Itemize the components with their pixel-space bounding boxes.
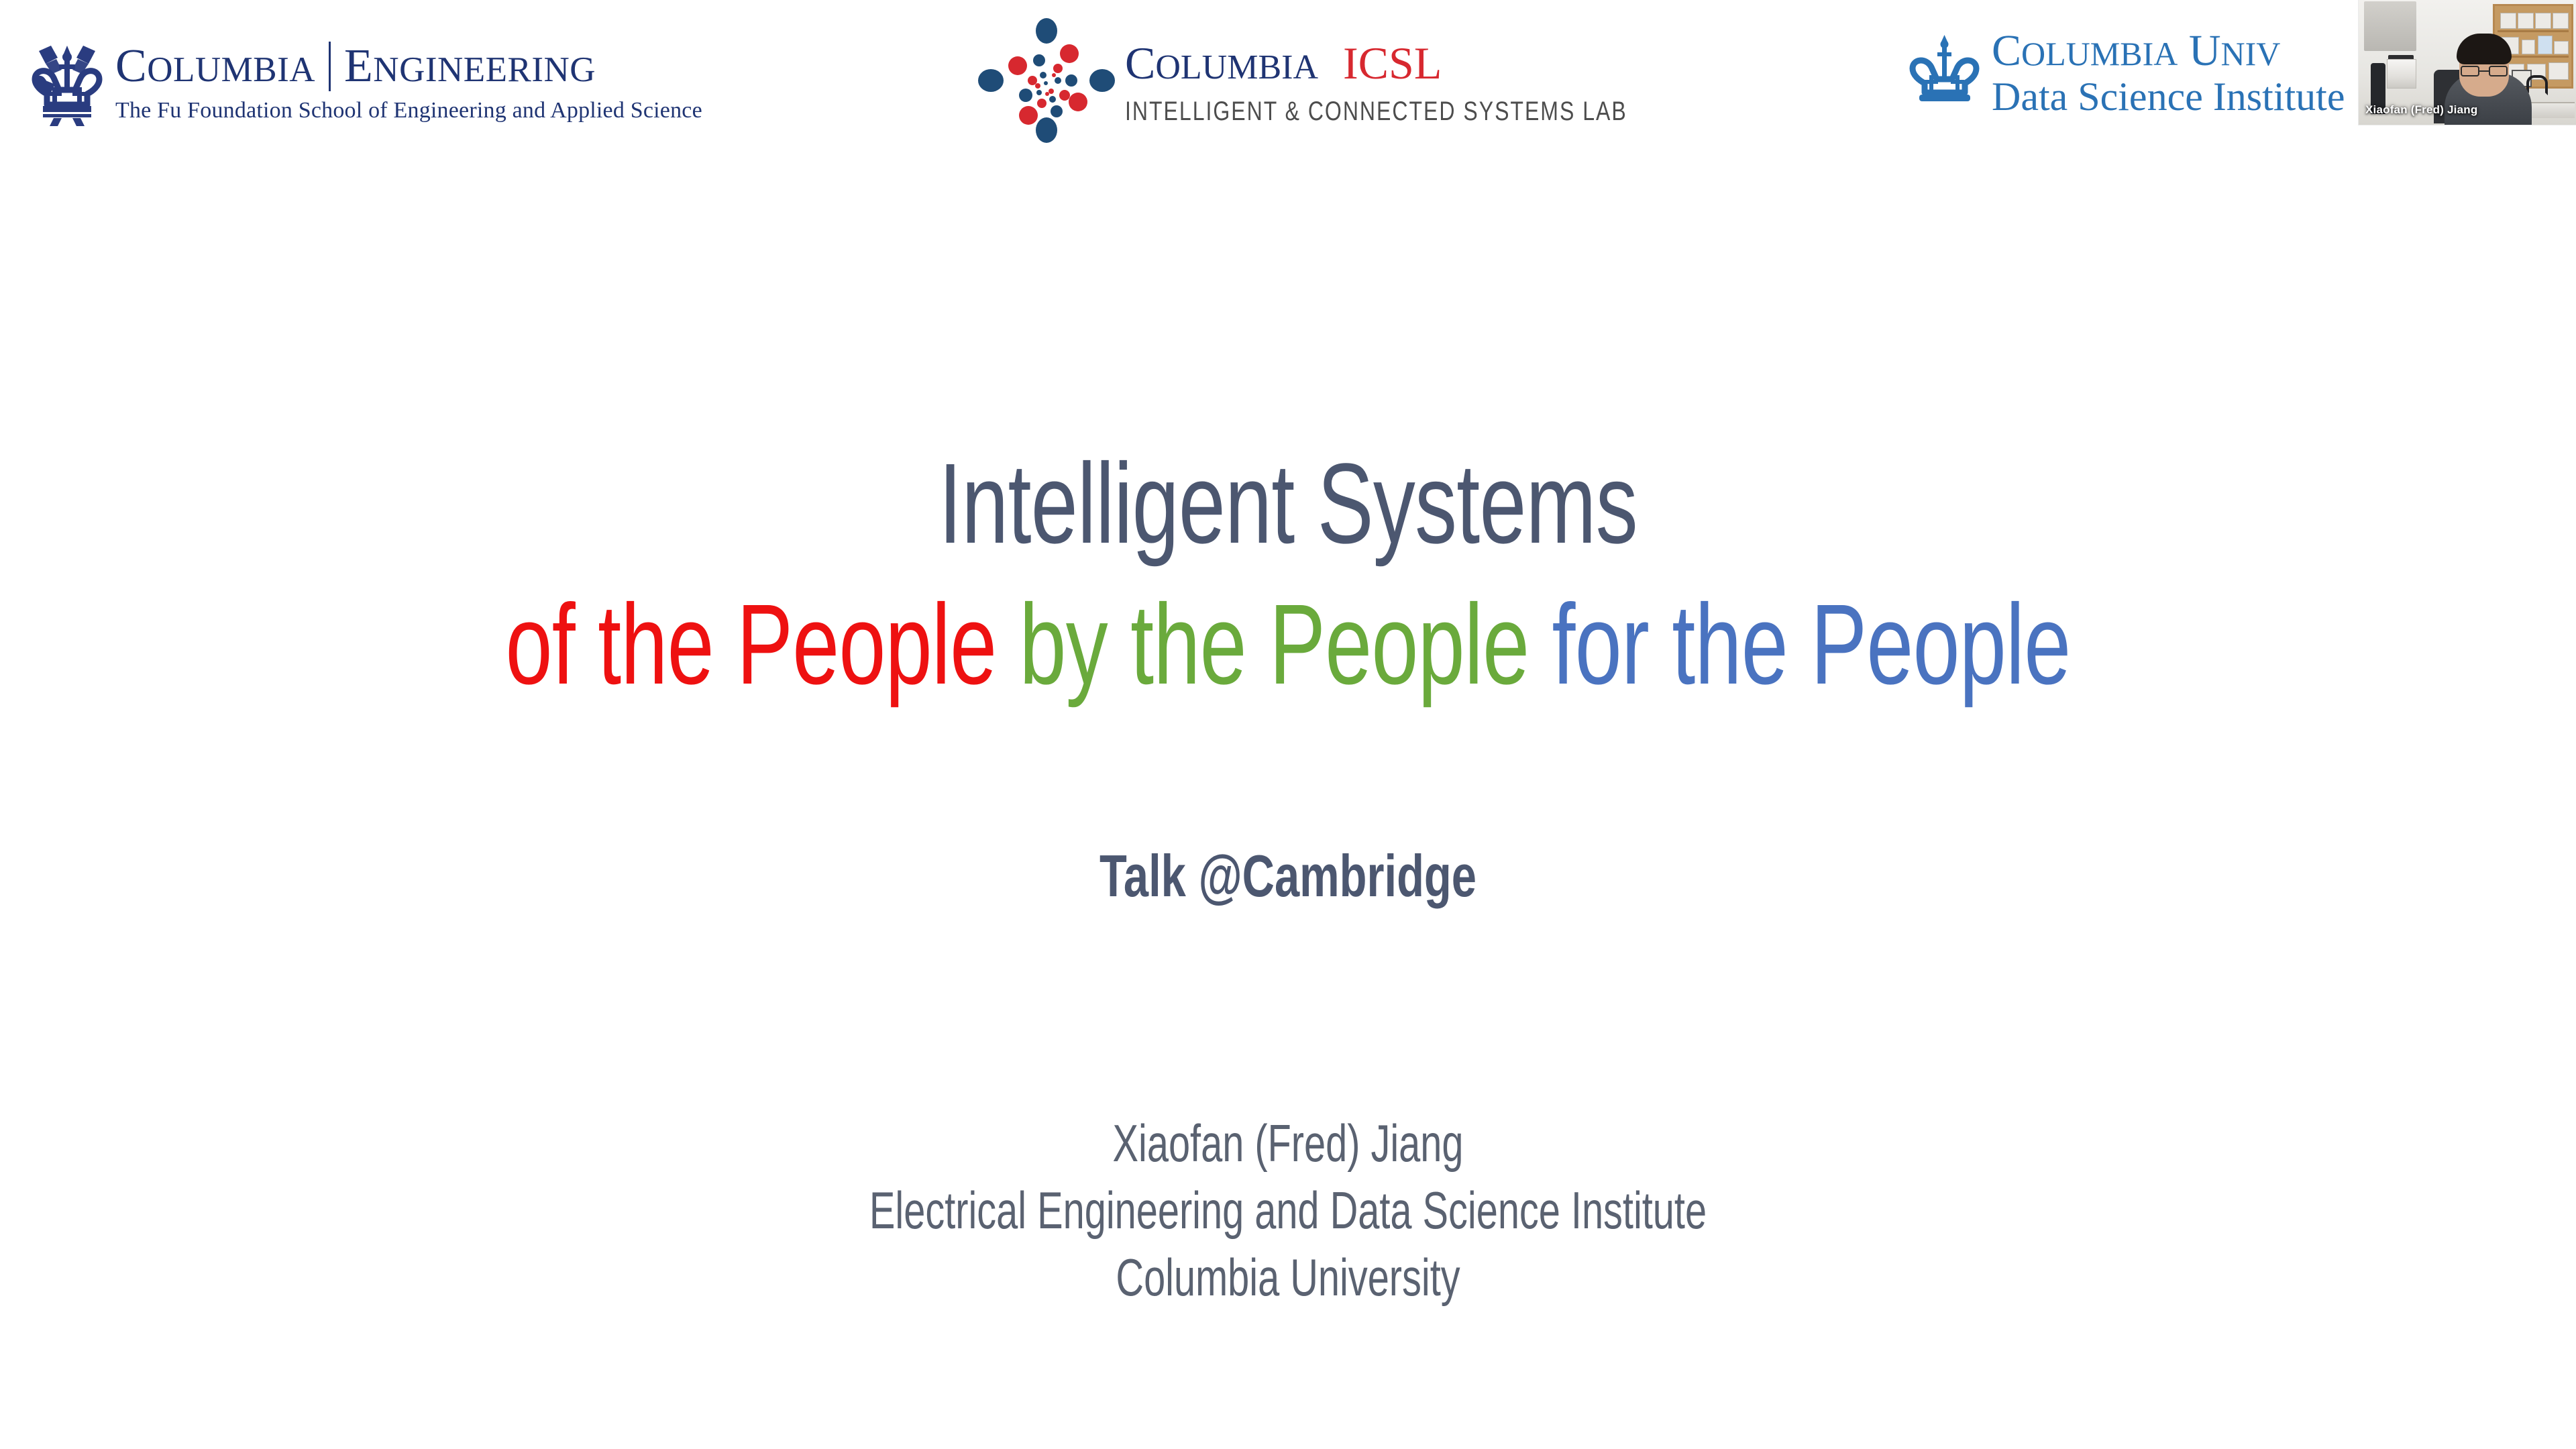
icsl-word-columbia: COLUMBIA bbox=[1125, 38, 1318, 89]
icsl-acronym: ICSL bbox=[1343, 38, 1442, 89]
columbia-crown-icon bbox=[28, 39, 106, 126]
title-segment-of-the-people: of the People bbox=[506, 581, 997, 708]
dsi-text: COLUMBIA UNIV Data Science Institute bbox=[1992, 28, 2345, 118]
webcam-participant-label: Xiaofan (Fred) Jiang bbox=[2365, 103, 2477, 117]
icsl-wordmark: COLUMBIA ICSL bbox=[1125, 40, 1753, 86]
engineering-text: COLUMBIA ENGINEERING The Fu Foundation S… bbox=[115, 39, 702, 123]
author-block: Xiaofan (Fred) Jiang Electrical Engineer… bbox=[0, 1110, 2576, 1311]
author-affiliation: Electrical Engineering and Data Science … bbox=[335, 1177, 2241, 1244]
dsi-line-institute: Data Science Institute bbox=[1992, 76, 2345, 118]
page-title-line2: of the People by the People for the Peop… bbox=[335, 584, 2241, 707]
logo-columbia-dsi: COLUMBIA UNIV Data Science Institute bbox=[1909, 28, 2345, 118]
author-name: Xiaofan (Fred) Jiang bbox=[335, 1110, 2241, 1177]
engineering-tagline: The Fu Foundation School of Engineering … bbox=[115, 98, 702, 123]
logo-bar: COLUMBIA ENGINEERING The Fu Foundation S… bbox=[0, 0, 2576, 161]
presentation-slide: COLUMBIA ENGINEERING The Fu Foundation S… bbox=[0, 0, 2576, 1449]
event-label: Talk @Cambridge bbox=[309, 842, 2267, 910]
webcam-video-overlay[interactable]: Xiaofan (Fred) Jiang bbox=[2359, 0, 2576, 125]
logo-columbia-engineering: COLUMBIA ENGINEERING The Fu Foundation S… bbox=[28, 39, 702, 126]
columbia-crown-icon bbox=[1909, 35, 1981, 110]
icsl-subtitle: INTELLIGENT & CONNECTED SYSTEMS LAB bbox=[1125, 97, 1627, 127]
icsl-dot-network-icon bbox=[976, 16, 1117, 144]
engineering-wordmark: COLUMBIA ENGINEERING bbox=[115, 42, 702, 91]
logo-columbia-icsl: COLUMBIA ICSL INTELLIGENT & CONNECTED SY… bbox=[976, 16, 1753, 144]
icsl-text: COLUMBIA ICSL INTELLIGENT & CONNECTED SY… bbox=[1125, 34, 1753, 127]
engineering-word-engineering: ENGINEERING bbox=[344, 43, 596, 90]
engineering-word-columbia: COLUMBIA bbox=[115, 43, 315, 90]
page-title-line1: Intelligent Systems bbox=[335, 443, 2241, 566]
title-segment-by-the-people: by the People bbox=[1020, 581, 1529, 708]
title-segment-for-the-people: for the People bbox=[1552, 581, 2071, 708]
wordmark-divider bbox=[329, 42, 331, 91]
author-institution: Columbia University bbox=[335, 1244, 2241, 1311]
title-block: Intelligent Systems of the People by the… bbox=[0, 443, 2576, 706]
dsi-line-university: COLUMBIA UNIV bbox=[1992, 28, 2345, 73]
